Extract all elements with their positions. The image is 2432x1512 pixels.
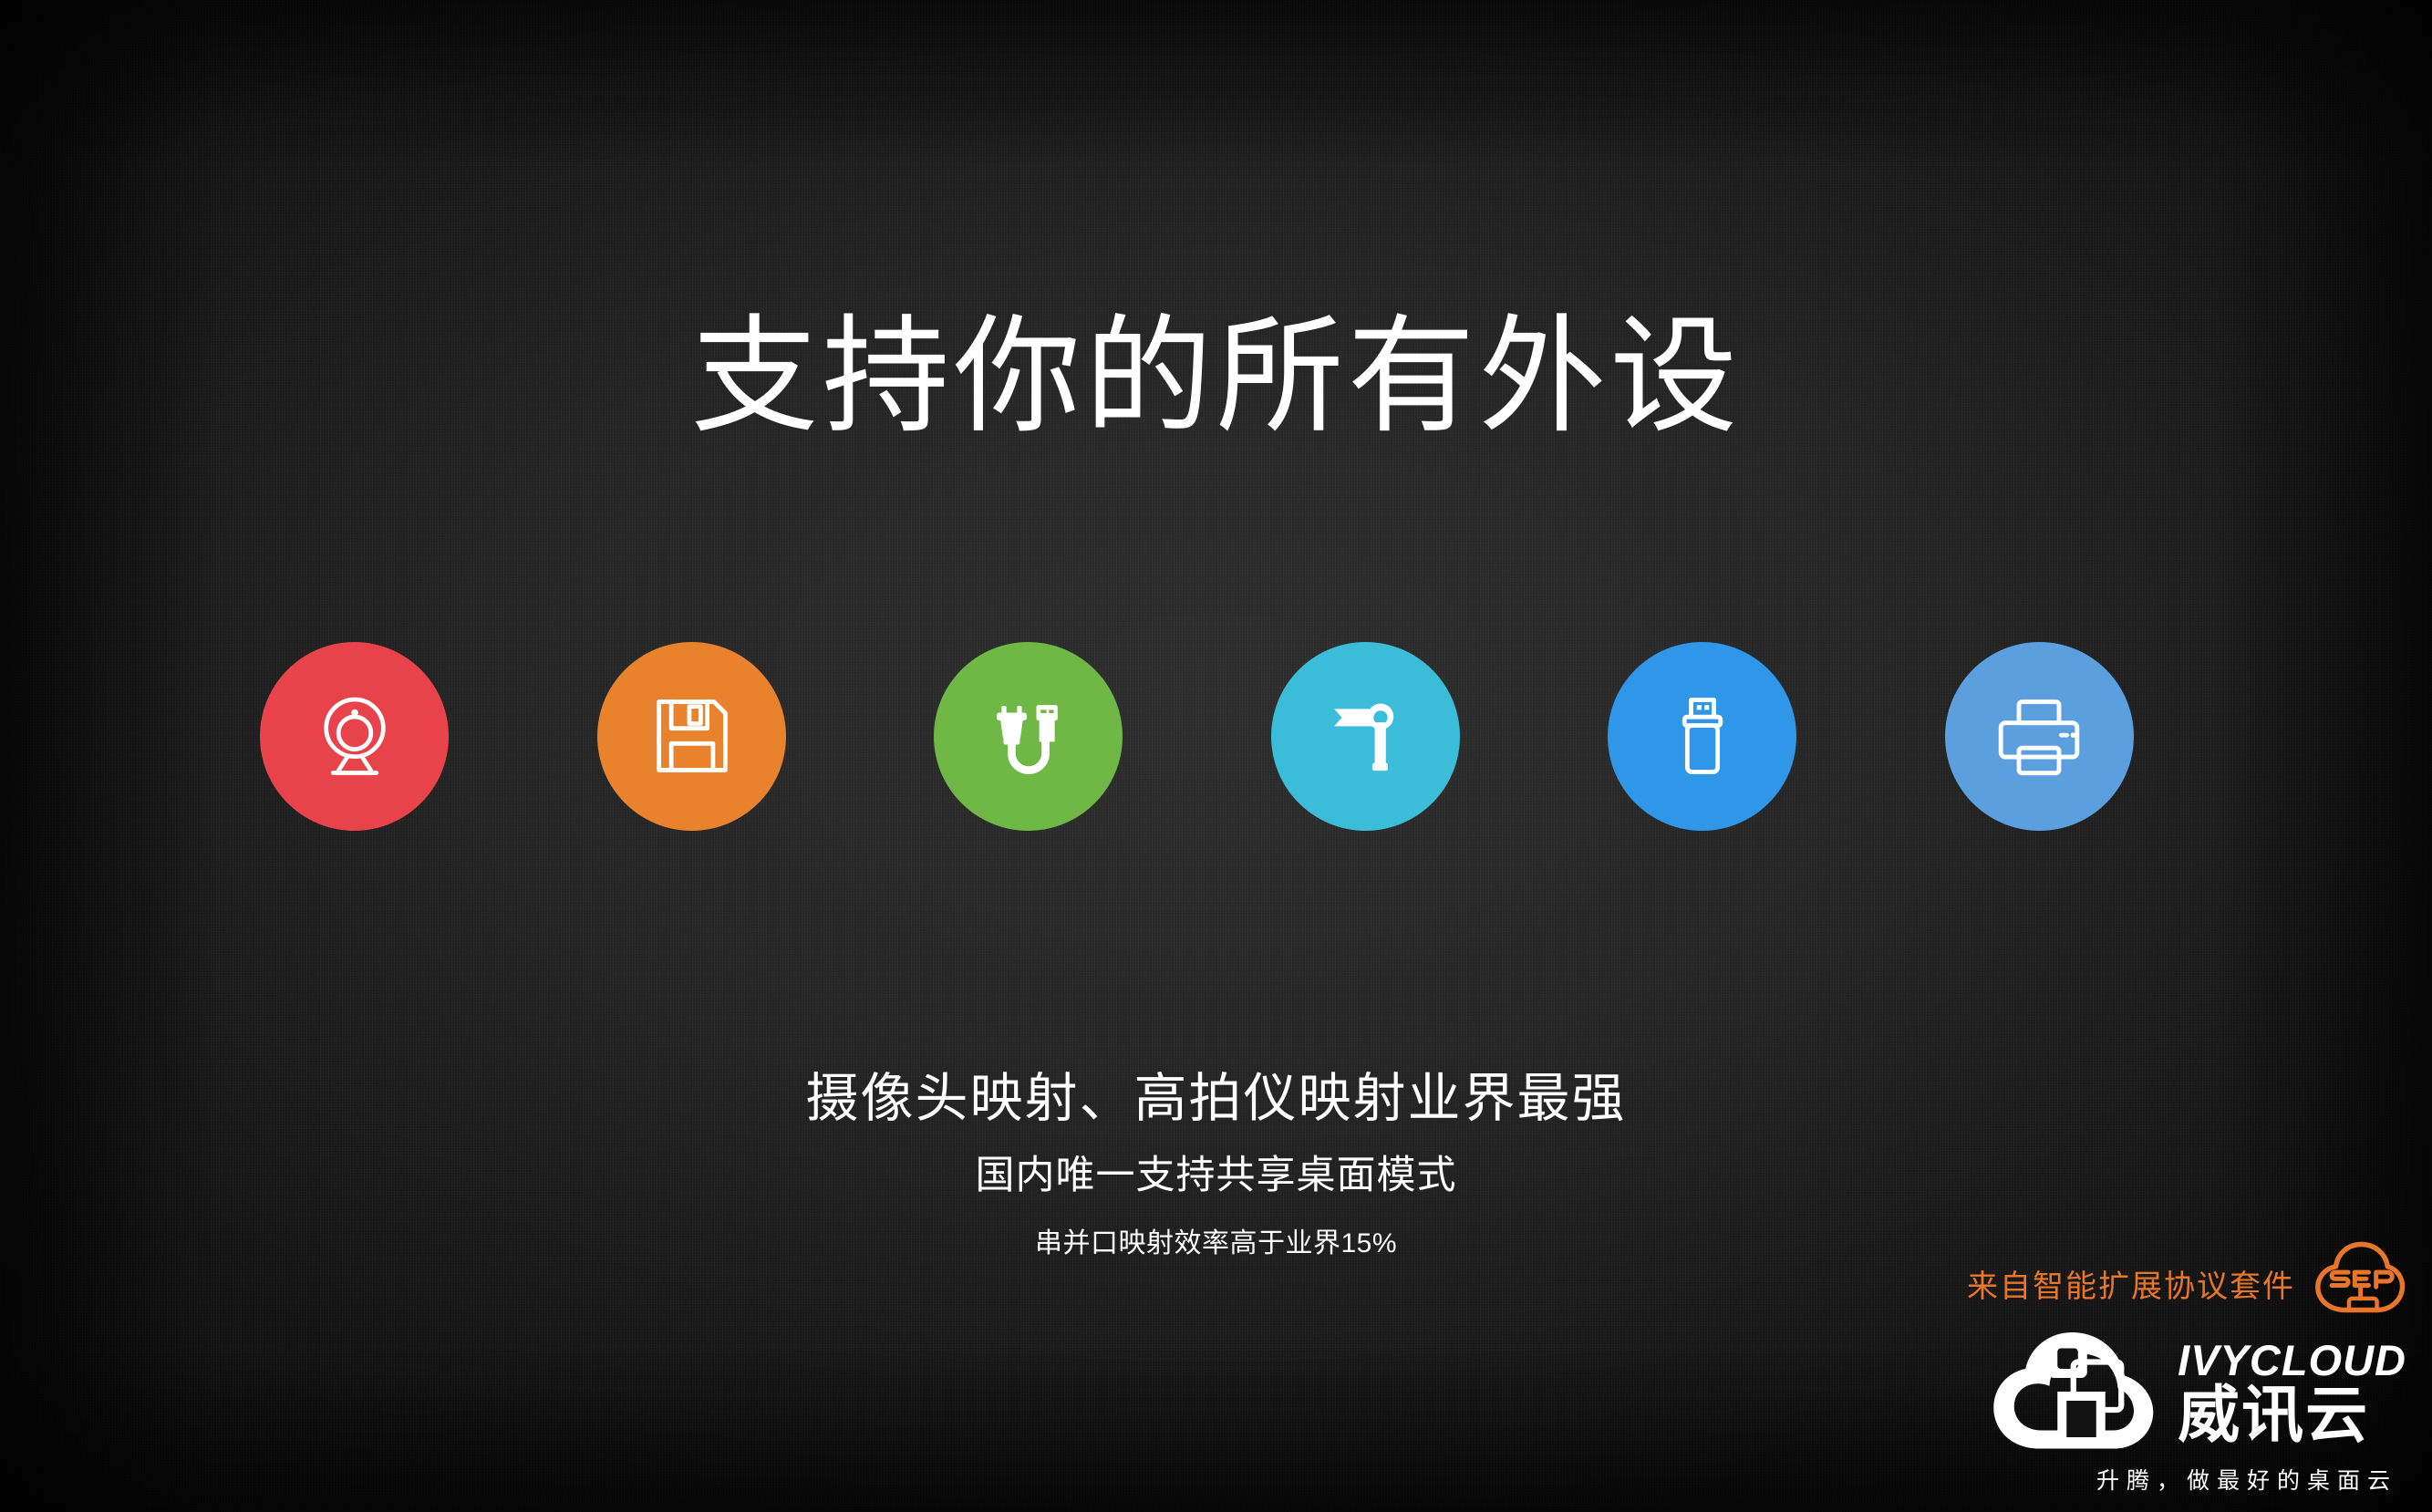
ivycloud-name-cn: 威讯云 — [2178, 1383, 2369, 1448]
usb-flash-drive-icon — [1655, 689, 1750, 783]
sep-tagline: 来自智能扩展协议套件 — [1967, 1261, 2295, 1306]
sep-branding-row: 来自智能扩展协议套件 — [1805, 1239, 2406, 1327]
caption-line-2: 国内唯一支持共享桌面模式 — [0, 1151, 2432, 1202]
webcam-icon — [305, 687, 404, 785]
printer-icon — [1989, 686, 2089, 786]
slide-title: 支持你的所有外设 — [0, 301, 2432, 451]
branding-block: 来自智能扩展协议套件 — [1805, 1239, 2406, 1496]
peripheral-icon-row — [260, 640, 2134, 832]
company-slogan: 升腾，做最好的桌面云 — [1805, 1463, 2406, 1496]
ivycloud-logo: IVYCLOUD 威讯云 — [1805, 1332, 2406, 1455]
caption-line-1: 摄像头映射、高拍仪映射业界最强 — [0, 1065, 2432, 1133]
icon-circle-usb-flash-drive — [1608, 642, 1796, 831]
presentation-slide: 支持你的所有外设 — [0, 0, 2432, 1512]
ivycloud-wordmark: IVYCLOUD 威讯云 — [2178, 1339, 2406, 1448]
ivycloud-cloud-mark-icon — [1988, 1332, 2161, 1455]
floppy-disk-icon — [644, 689, 739, 783]
document-camera-icon — [1317, 688, 1413, 784]
icon-circle-usb-cable — [934, 642, 1123, 831]
icon-circle-webcam — [260, 642, 449, 831]
caption-block: 摄像头映射、高拍仪映射业界最强 国内唯一支持共享桌面模式 串并口映射效率高于业界… — [0, 1065, 2432, 1261]
icon-circle-floppy-disk — [597, 642, 786, 831]
icon-circle-printer — [1945, 642, 2134, 831]
usb-cable-icon — [980, 688, 1077, 784]
ivycloud-name-en: IVYCLOUD — [2178, 1339, 2406, 1382]
sep-cloud-logo-icon — [2308, 1239, 2406, 1328]
icon-circle-document-camera — [1271, 642, 1460, 831]
